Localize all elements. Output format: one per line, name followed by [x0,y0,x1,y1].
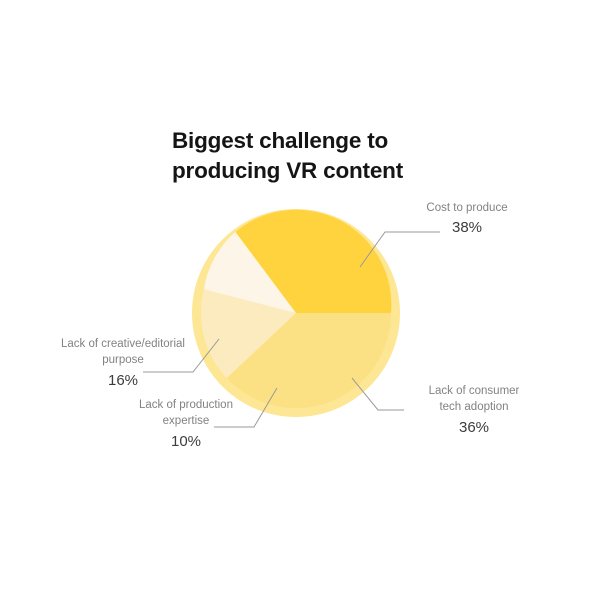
pie-label-percent: 38% [400,217,534,239]
pie-label-lack-of-consumer-tech-adoption: Lack of consumer tech adoption 36% [404,383,544,438]
pie-label-text: Cost to produce [400,200,534,216]
pie-label-lack-of-creative-editorial-purpose: Lack of creative/editorial purpose 16% [48,336,198,391]
pie-label-cost-to-produce: Cost to produce 38% [400,200,534,239]
pie-label-percent: 36% [404,417,544,439]
pie-label-text: Lack of consumer tech adoption [404,383,544,416]
pie-label-percent: 10% [112,431,260,453]
pie-label-percent: 16% [48,370,198,392]
pie-label-lack-of-production-expertise: Lack of production expertise 10% [112,397,260,452]
chart-page: Biggest challenge to producing VR conten… [0,0,600,600]
pie-label-text: Lack of production expertise [112,397,260,430]
pie-label-text: Lack of creative/editorial purpose [48,336,198,369]
pie-chart [0,0,600,600]
